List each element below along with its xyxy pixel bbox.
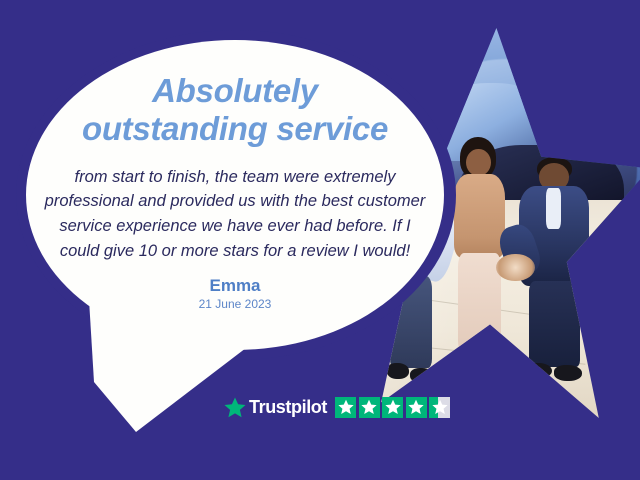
photo-person-shoe <box>387 363 409 378</box>
trustpilot-stars[interactable] <box>335 397 450 418</box>
trustpilot-logo[interactable]: Trustpilot <box>224 397 327 418</box>
trustpilot-star-5[interactable] <box>429 397 450 418</box>
review-body: from start to finish, the team were extr… <box>38 165 432 264</box>
review-date: 21 June 2023 <box>38 298 432 311</box>
star-icon <box>385 399 401 415</box>
photo-person-legs <box>529 281 581 367</box>
review-author: Emma <box>38 277 432 296</box>
photo-person-head <box>466 149 490 176</box>
photo-person-torso <box>454 174 506 258</box>
trustpilot-star-icon <box>224 397 246 418</box>
photo-person-shoe <box>410 368 434 383</box>
photo-person-shoe <box>479 351 501 373</box>
photo-person-shoe <box>455 346 476 368</box>
review-content: Absolutely outstanding service from star… <box>38 72 432 311</box>
review-headline-line-2: outstanding service <box>82 110 388 147</box>
trustpilot-star-3[interactable] <box>382 397 403 418</box>
star-icon <box>432 399 448 415</box>
review-attribution: Emma 21 June 2023 <box>38 277 432 312</box>
review-headline-line-1: Absolutely <box>152 72 318 109</box>
photo-person-shirt <box>546 188 561 229</box>
star-icon <box>338 399 354 415</box>
trustpilot-star-2[interactable] <box>359 397 380 418</box>
trustpilot-star-1[interactable] <box>335 397 356 418</box>
photo-person-shoe <box>526 363 553 379</box>
review-headline: Absolutely outstanding service <box>38 72 432 149</box>
photo-person-legs <box>458 253 501 351</box>
trustpilot-wordmark: Trustpilot <box>249 398 327 416</box>
photo-person-shoe <box>554 365 582 381</box>
testimonial-card: Absolutely outstanding service from star… <box>0 0 640 480</box>
trustpilot-star-4[interactable] <box>406 397 427 418</box>
trustpilot-rating[interactable]: Trustpilot <box>224 394 450 420</box>
star-icon <box>361 399 377 415</box>
star-icon <box>408 399 424 415</box>
